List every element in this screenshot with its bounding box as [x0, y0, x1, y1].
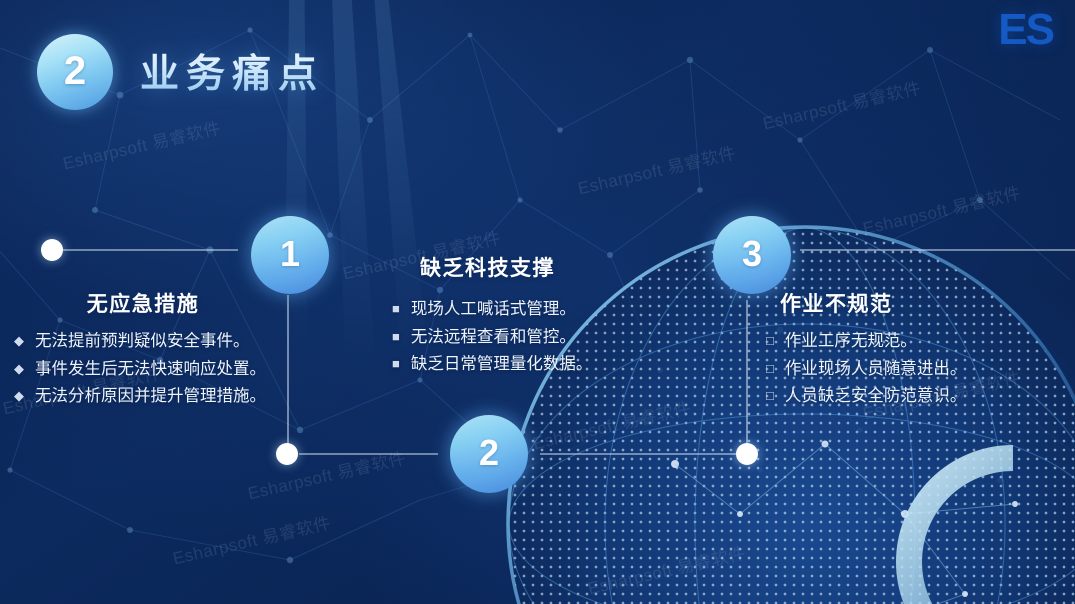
list-item-text: 事件发生后无法快速响应处置。: [35, 356, 266, 383]
list-item: ■现场人工喊话式管理。: [392, 296, 684, 323]
endpoint-dot-left: [41, 239, 63, 261]
endpoint-dot-right: [736, 443, 758, 465]
node-two[interactable]: 2: [437, 402, 541, 506]
node-two-number: 2: [479, 435, 499, 471]
watermark-text: Esharpsoft 易睿软件: [860, 179, 1023, 240]
list-item: ◆无法提前预判疑似安全事件。: [14, 328, 266, 355]
list-item: ◆无法分析原因并提升管理措施。: [14, 383, 266, 410]
bullet-glyph-icon: ■: [392, 296, 400, 321]
list-item-text: 无法远程查看和管控。: [411, 324, 684, 351]
column-one-title: 无应急措施: [14, 288, 266, 318]
content-column-two: 缺乏科技支撑 ■现场人工喊话式管理。■无法远程查看和管控。■缺乏日常管理量化数据…: [384, 252, 684, 379]
column-two-bullet-list: ■现场人工喊话式管理。■无法远程查看和管控。■缺乏日常管理量化数据。: [384, 296, 684, 378]
bullet-glyph-icon: ■: [392, 351, 400, 376]
list-item-text: 作业现场人员随意进出。: [785, 356, 1070, 383]
bullet-glyph-icon: □: [766, 356, 774, 381]
column-one-bullet-list: ◆无法提前预判疑似安全事件。◆事件发生后无法快速响应处置。◆无法分析原因并提升管…: [14, 328, 266, 410]
list-item: ■缺乏日常管理量化数据。: [392, 351, 684, 378]
list-item-text: 现场人工喊话式管理。: [411, 296, 684, 323]
bullet-glyph-icon: ◆: [14, 383, 24, 408]
list-item-text: 无法分析原因并提升管理措施。: [35, 383, 266, 410]
watermark-text: Esharpsoft 易睿软件: [170, 509, 333, 570]
list-item-text: 人员缺乏安全防范意识。: [785, 383, 1070, 410]
column-three-title: 作业不规范: [758, 288, 1070, 318]
bullet-glyph-icon: □: [766, 383, 774, 408]
list-item-text: 缺乏日常管理量化数据。: [411, 351, 684, 378]
section-number: 2: [64, 51, 86, 91]
es-logo: ES: [998, 8, 1053, 52]
list-item: ■无法远程查看和管控。: [392, 324, 684, 351]
bullet-glyph-icon: ◆: [14, 328, 24, 353]
node-one-number: 1: [280, 236, 300, 272]
arc-decoration: [893, 442, 1075, 604]
bullet-glyph-icon: ◆: [14, 356, 24, 381]
list-item: □作业工序无规范。: [766, 328, 1070, 355]
watermark-text: Esharpsoft 易睿软件: [585, 539, 748, 600]
bullet-glyph-icon: □: [766, 328, 774, 353]
list-item-text: 无法提前预判疑似安全事件。: [35, 328, 266, 355]
list-item: □人员缺乏安全防范意识。: [766, 383, 1070, 410]
column-three-bullet-list: □作业工序无规范。□作业现场人员随意进出。□人员缺乏安全防范意识。: [758, 328, 1070, 410]
column-two-title: 缺乏科技支撑: [384, 252, 684, 282]
watermark-text: Esharpsoft 易睿软件: [575, 139, 738, 200]
list-item: □作业现场人员随意进出。: [766, 356, 1070, 383]
watermark-text: Esharpsoft 易睿软件: [530, 394, 693, 455]
list-item-text: 作业工序无规范。: [785, 328, 1070, 355]
page-title: 业务痛点: [140, 43, 324, 99]
section-number-badge: 2: [29, 26, 121, 118]
slide-root: Esharpsoft 易睿软件Esharpsoft 易睿软件Esharpsoft…: [0, 0, 1075, 604]
watermark-text: Esharpsoft 易睿软件: [60, 114, 223, 175]
bullet-glyph-icon: ■: [392, 324, 400, 349]
endpoint-dot-center: [276, 443, 298, 465]
content-column-three: 作业不规范 □作业工序无规范。□作业现场人员随意进出。□人员缺乏安全防范意识。: [758, 288, 1070, 411]
watermark-text: Esharpsoft 易睿软件: [245, 444, 408, 505]
list-item: ◆事件发生后无法快速响应处置。: [14, 356, 266, 383]
watermark-text: Esharpsoft 易睿软件: [760, 74, 923, 135]
node-three-number: 3: [742, 236, 762, 272]
content-column-one: 无应急措施 ◆无法提前预判疑似安全事件。◆事件发生后无法快速响应处置。◆无法分析…: [14, 288, 266, 411]
